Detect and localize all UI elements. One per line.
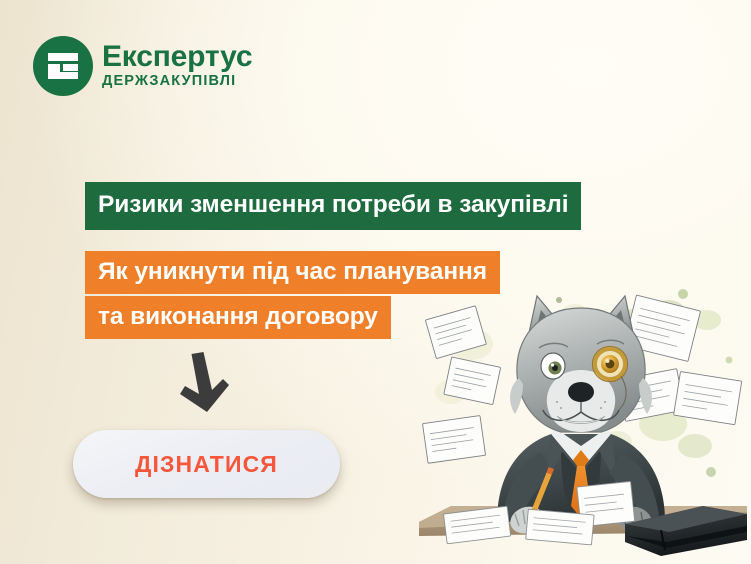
folder [625, 506, 747, 556]
wolf-figure [497, 428, 665, 538]
learn-more-button[interactable]: ДІЗНАТИСЯ [73, 430, 340, 498]
headline-primary: Ризики зменшення потреби в закупівлі [85, 182, 581, 230]
brand-title: Експертус [102, 42, 252, 73]
brand-logo[interactable]: Експертус ДЕРЖЗАКУПІВЛІ [33, 36, 252, 96]
left-paw [507, 502, 547, 537]
brand-logo-text: Експертус ДЕРЖЗАКУПІВЛІ [102, 42, 252, 91]
brand-subtitle: ДЕРЖЗАКУПІВЛІ [102, 74, 252, 90]
headline-secondary: Як уникнути під час планування та викона… [85, 250, 605, 339]
arrow-down-icon [176, 352, 232, 414]
promo-banner: Експертус ДЕРЖЗАКУПІВЛІ Ризики зменшення… [0, 0, 751, 564]
desk-papers [444, 506, 595, 545]
pencil [527, 467, 554, 523]
right-paw [615, 503, 655, 537]
desk [419, 506, 747, 536]
headline-secondary-line-1: Як уникнути під час планування [85, 251, 500, 294]
held-document [577, 481, 635, 526]
ekspertus-e-mark-icon [33, 36, 93, 96]
headline-secondary-line-2: та виконання договору [85, 296, 391, 339]
